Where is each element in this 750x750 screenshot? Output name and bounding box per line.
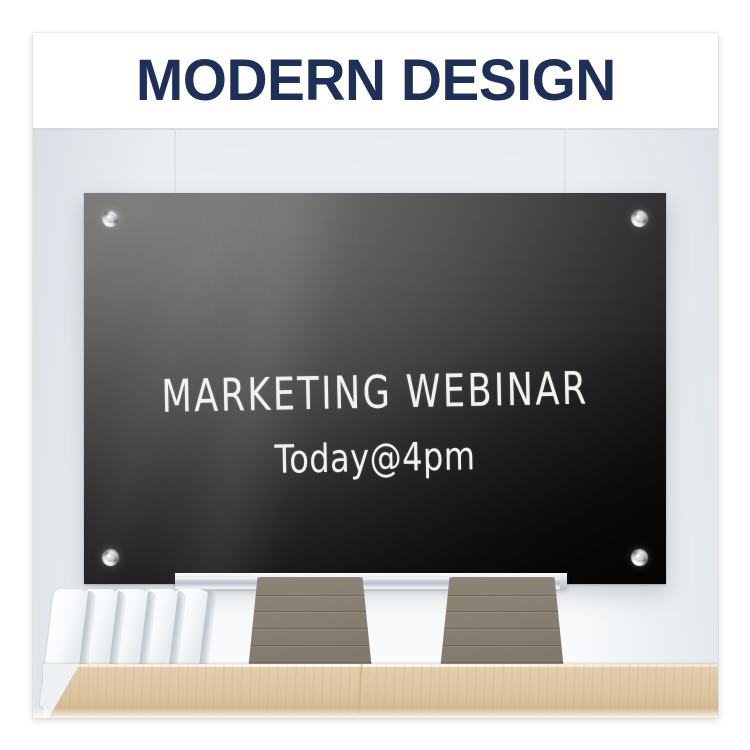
product-photo: MARKETING WEBINAR Today@4pm	[33, 128, 718, 718]
page-title: MODERN DESIGN	[136, 52, 616, 110]
furniture-group	[33, 128, 718, 718]
table-wood-grain	[43, 664, 718, 718]
conference-table	[43, 664, 718, 718]
table-corner-cut	[43, 664, 99, 718]
product-card: MODERN DESIGN MARKETING WEBINAR Today@4p…	[33, 33, 718, 718]
headline-band: MODERN DESIGN	[33, 33, 718, 128]
